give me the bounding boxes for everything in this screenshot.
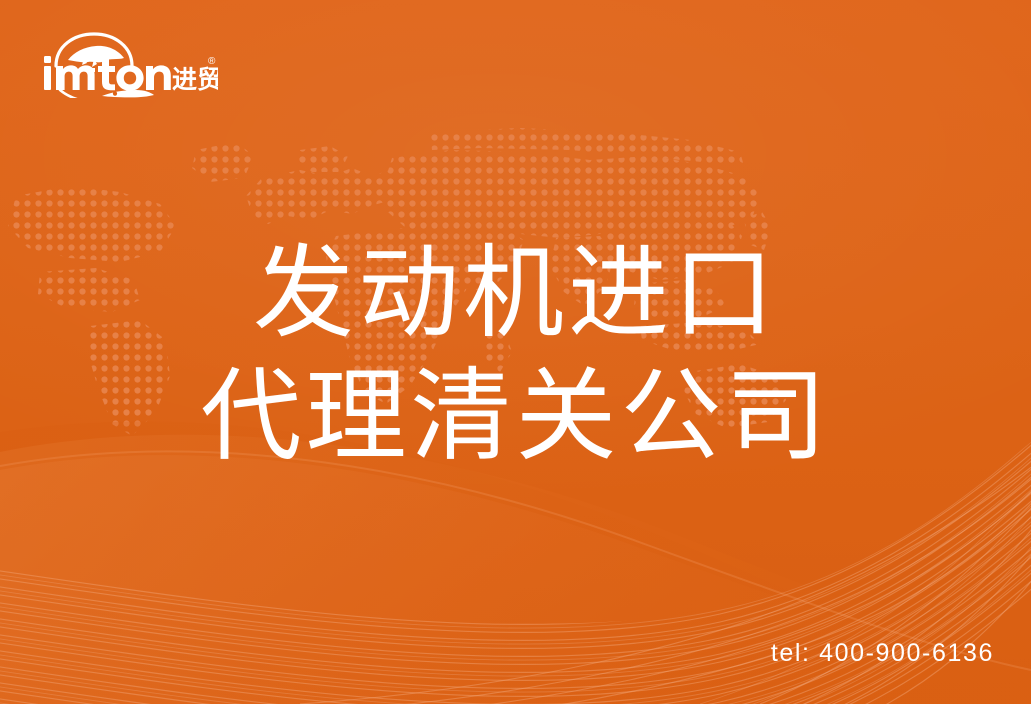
trademark-symbol: ® [208,56,216,67]
headline-block: 发动机进口 代理清关公司 [0,232,1031,480]
telephone-text[interactable]: tel: 400-900-6136 [771,638,994,668]
promotional-banner: 进贸通 ® 发动机进口 代理清关公司 tel: 400-900-6136 [0,0,1031,704]
headline-line-2: 代理清关公司 [0,355,1031,480]
logo-wordmark [44,56,171,91]
plane-swoosh-icon [60,90,154,98]
headline-line-1: 发动机进口 [0,232,1031,357]
company-logo[interactable]: 进贸通 ® [38,30,218,98]
logo-artwork: 进贸通 ® [38,30,218,98]
logo-chinese-name: 进贸通 [172,66,218,94]
